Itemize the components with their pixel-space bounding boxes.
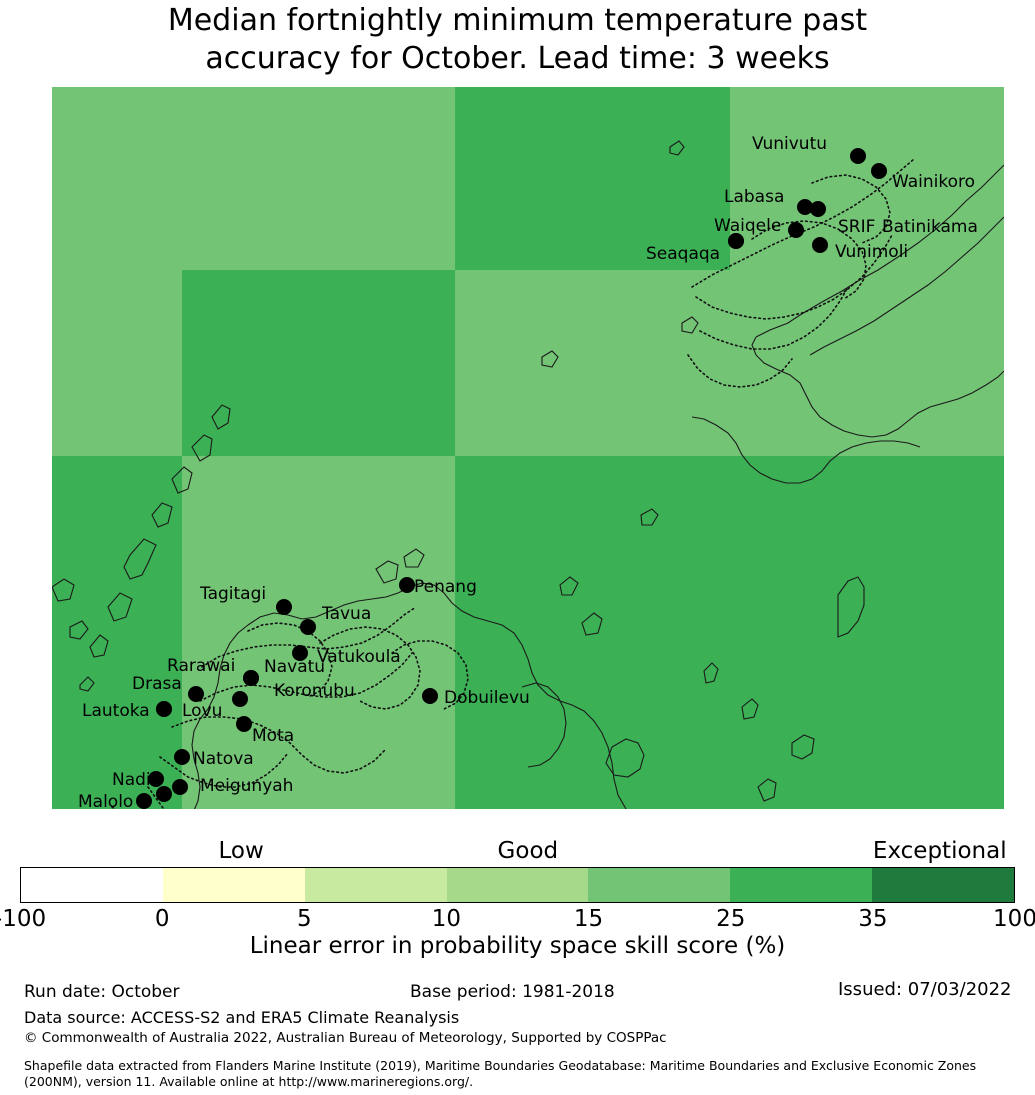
- station-label: Natova: [193, 749, 254, 769]
- station-label: Navatu: [264, 657, 325, 677]
- station-dot: [399, 577, 415, 593]
- station-label: Mota: [252, 726, 294, 746]
- colorbar-tick-labels: -1000510152535100: [0, 906, 1035, 934]
- station-label: Tagitagi: [199, 584, 266, 604]
- colorbar-category-label: Exceptional: [873, 838, 1007, 864]
- colorbar-category-label: Low: [218, 838, 263, 864]
- station-label: Rarawai: [167, 656, 235, 676]
- station-label: Koronubu: [274, 681, 355, 701]
- station-label: Penang: [414, 577, 477, 597]
- colorbar-tick-label: 5: [297, 906, 312, 932]
- internal-boundary-paths: [112, 159, 914, 809]
- station-dot: [422, 688, 438, 704]
- station-dot: [810, 201, 826, 217]
- colorbar-tick-label: 35: [858, 906, 887, 932]
- station-dot: [172, 779, 188, 795]
- station-label: Tavua: [321, 604, 371, 624]
- colorbar-category-labels: LowGoodExceptional: [0, 838, 1035, 864]
- station-markers-layer: VunivutuWainikoroLabasaSRIFBatinikamaWai…: [78, 134, 978, 809]
- station-dot: [148, 771, 164, 787]
- page-title-line-1: Median fortnightly minimum temperature p…: [0, 2, 1035, 40]
- base-period: Base period: 1981-2018: [410, 982, 615, 1002]
- run-date: Run date: October: [24, 982, 180, 1002]
- station-dot: [788, 222, 804, 238]
- station-label: Dobuilevu: [444, 688, 530, 708]
- colorbar-section: LowGoodExceptional -1000510152535100 Lin…: [0, 838, 1035, 948]
- station-label: Vunimoli: [835, 242, 908, 262]
- colorbar-segment: [872, 868, 1014, 902]
- copyright-notice: © Commonwealth of Australia 2022, Austra…: [24, 1030, 667, 1046]
- station-label: Malolo: [78, 792, 133, 809]
- station-dot: [292, 645, 308, 661]
- colorbar-segment: [447, 868, 589, 902]
- station-dot: [236, 716, 252, 732]
- map-overlay-svg: VunivutuWainikoroLabasaSRIFBatinikamaWai…: [52, 87, 1004, 809]
- station-label: Nadi: [112, 770, 151, 790]
- footer-top-row: Run date: October Base period: 1981-2018…: [0, 982, 1035, 1008]
- station-label: Labasa: [724, 187, 784, 207]
- station-label: Wainikoro: [892, 172, 975, 192]
- station-label: Drasa: [132, 674, 182, 694]
- page-title: Median fortnightly minimum temperature p…: [0, 2, 1035, 78]
- station-dot: [300, 619, 316, 635]
- station-label: Lovu: [182, 701, 222, 721]
- colorbar: [20, 867, 1015, 903]
- colorbar-tick-label: 100: [993, 906, 1035, 932]
- station-label: Seaqaqa: [646, 244, 720, 264]
- shapefile-line-2: version 11. Available online at http://w…: [86, 1074, 473, 1089]
- station-dot: [232, 691, 248, 707]
- station-dot: [174, 749, 190, 765]
- station-dot: [276, 599, 292, 615]
- station-dot: [243, 670, 259, 686]
- page-title-line-2: accuracy for October. Lead time: 3 weeks: [0, 40, 1035, 78]
- station-dot: [156, 786, 172, 802]
- station-label: Batinikama: [882, 217, 978, 237]
- station-dot: [871, 163, 887, 179]
- station-label: Lautoka: [82, 701, 150, 721]
- colorbar-segment: [588, 868, 730, 902]
- colorbar-tick-label: 0: [155, 906, 170, 932]
- station-dot: [728, 233, 744, 249]
- colorbar-segment: [305, 868, 447, 902]
- colorbar-segment: [163, 868, 305, 902]
- station-dot: [156, 701, 172, 717]
- issued-date: Issued: 07/03/2022: [838, 979, 1012, 1000]
- data-source: Data source: ACCESS-S2 and ERA5 Climate …: [24, 1008, 459, 1027]
- station-dot: [812, 237, 828, 253]
- station-label: Vatukoula: [317, 647, 401, 667]
- station-dot: [850, 148, 866, 164]
- footer: Run date: October Base period: 1981-2018…: [0, 982, 1035, 1095]
- station-label: SRIF: [838, 217, 875, 237]
- station-label: Meigunyah: [200, 776, 293, 796]
- shapefile-attribution: Shapefile data extracted from Flanders M…: [24, 1058, 1024, 1090]
- station-label: Waiqele: [714, 216, 781, 236]
- station-label: Vunivutu: [752, 134, 827, 154]
- colorbar-tick-label: 25: [716, 906, 745, 932]
- colorbar-segment: [730, 868, 872, 902]
- colorbar-segment: [21, 868, 163, 902]
- colorbar-category-label: Good: [498, 838, 559, 864]
- station-label: Navo: [165, 808, 209, 809]
- skill-score-map: VunivutuWainikoroLabasaSRIFBatinikamaWai…: [52, 87, 1004, 809]
- station-dot: [136, 793, 152, 809]
- colorbar-axis-label: Linear error in probability space skill …: [0, 933, 1035, 959]
- colorbar-tick-label: -100: [0, 906, 46, 932]
- colorbar-tick-label: 10: [432, 906, 461, 932]
- colorbar-tick-label: 15: [574, 906, 603, 932]
- station-dot: [188, 686, 204, 702]
